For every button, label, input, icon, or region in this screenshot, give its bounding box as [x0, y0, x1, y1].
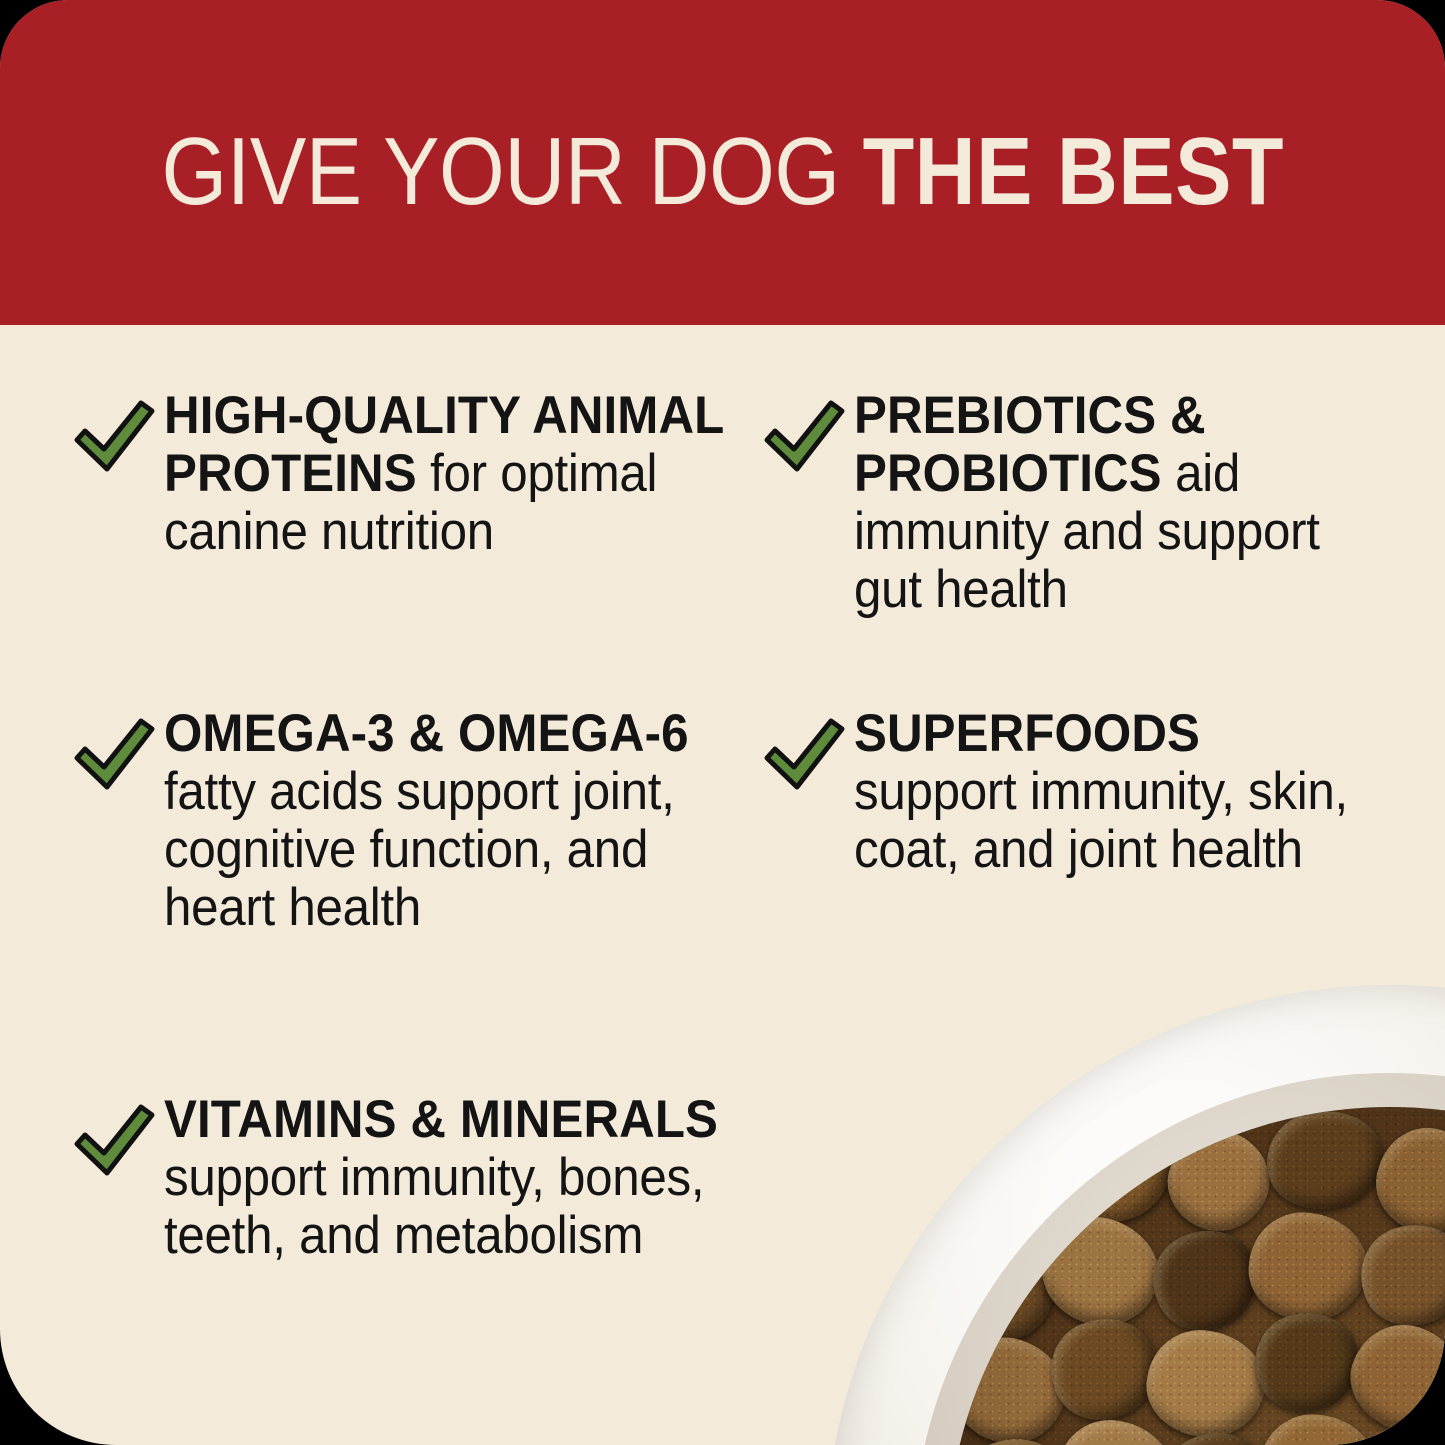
feature-item-omega-3-omega-6: OMEGA-3 & OMEGA-6 fatty acids support jo… — [72, 705, 772, 937]
check-icon — [762, 387, 854, 477]
feature-item-body: support immunity, skin, coat, and joint … — [854, 762, 1348, 879]
page-title-light: GIVE YOUR DOG — [161, 118, 862, 225]
feature-item-text: SUPERFOODS support immunity, skin, coat,… — [854, 705, 1364, 879]
feature-item-body: fatty acids support joint, cognitive fun… — [164, 762, 675, 937]
feature-item-heading: SUPERFOODS — [854, 704, 1200, 763]
product-feature-card: GIVE YOUR DOG THE BEST — [0, 0, 1445, 1445]
feature-item-prebiotics-probiotics: PREBIOTICS & PROBIOTICS aid immunity and… — [762, 387, 1402, 619]
check-icon — [72, 705, 164, 795]
feature-item-text: HIGH-QUALITY ANIMAL PROTEINS for optimal… — [164, 387, 729, 561]
feature-item-body: support immunity, bones, teeth, and meta… — [164, 1148, 704, 1265]
feature-item-text: VITAMINS & MINERALS support immunity, bo… — [164, 1091, 767, 1265]
feature-item-text: OMEGA-3 & OMEGA-6 fatty acids support jo… — [164, 705, 729, 937]
feature-item-superfoods: SUPERFOODS support immunity, skin, coat,… — [762, 705, 1402, 879]
page-title: GIVE YOUR DOG THE BEST — [161, 124, 1283, 220]
feature-item-vitamins-minerals: VITAMINS & MINERALS support immunity, bo… — [72, 1091, 812, 1265]
feature-item-heading: PREBIOTICS & PROBIOTICS — [854, 386, 1206, 503]
feature-item-heading: VITAMINS & MINERALS — [164, 1090, 718, 1149]
page-title-heavy: THE BEST — [862, 118, 1283, 225]
check-icon — [72, 1091, 164, 1181]
header-banner: GIVE YOUR DOG THE BEST — [0, 0, 1445, 325]
check-icon — [762, 705, 854, 795]
check-icon — [72, 387, 164, 477]
feature-item-heading: OMEGA-3 & OMEGA-6 — [164, 704, 689, 763]
feature-item-text: PREBIOTICS & PROBIOTICS aid immunity and… — [854, 387, 1364, 619]
feature-item-high-quality-animal-proteins: HIGH-QUALITY ANIMAL PROTEINS for optimal… — [72, 387, 772, 561]
feature-list: HIGH-QUALITY ANIMAL PROTEINS for optimal… — [0, 325, 1445, 1445]
